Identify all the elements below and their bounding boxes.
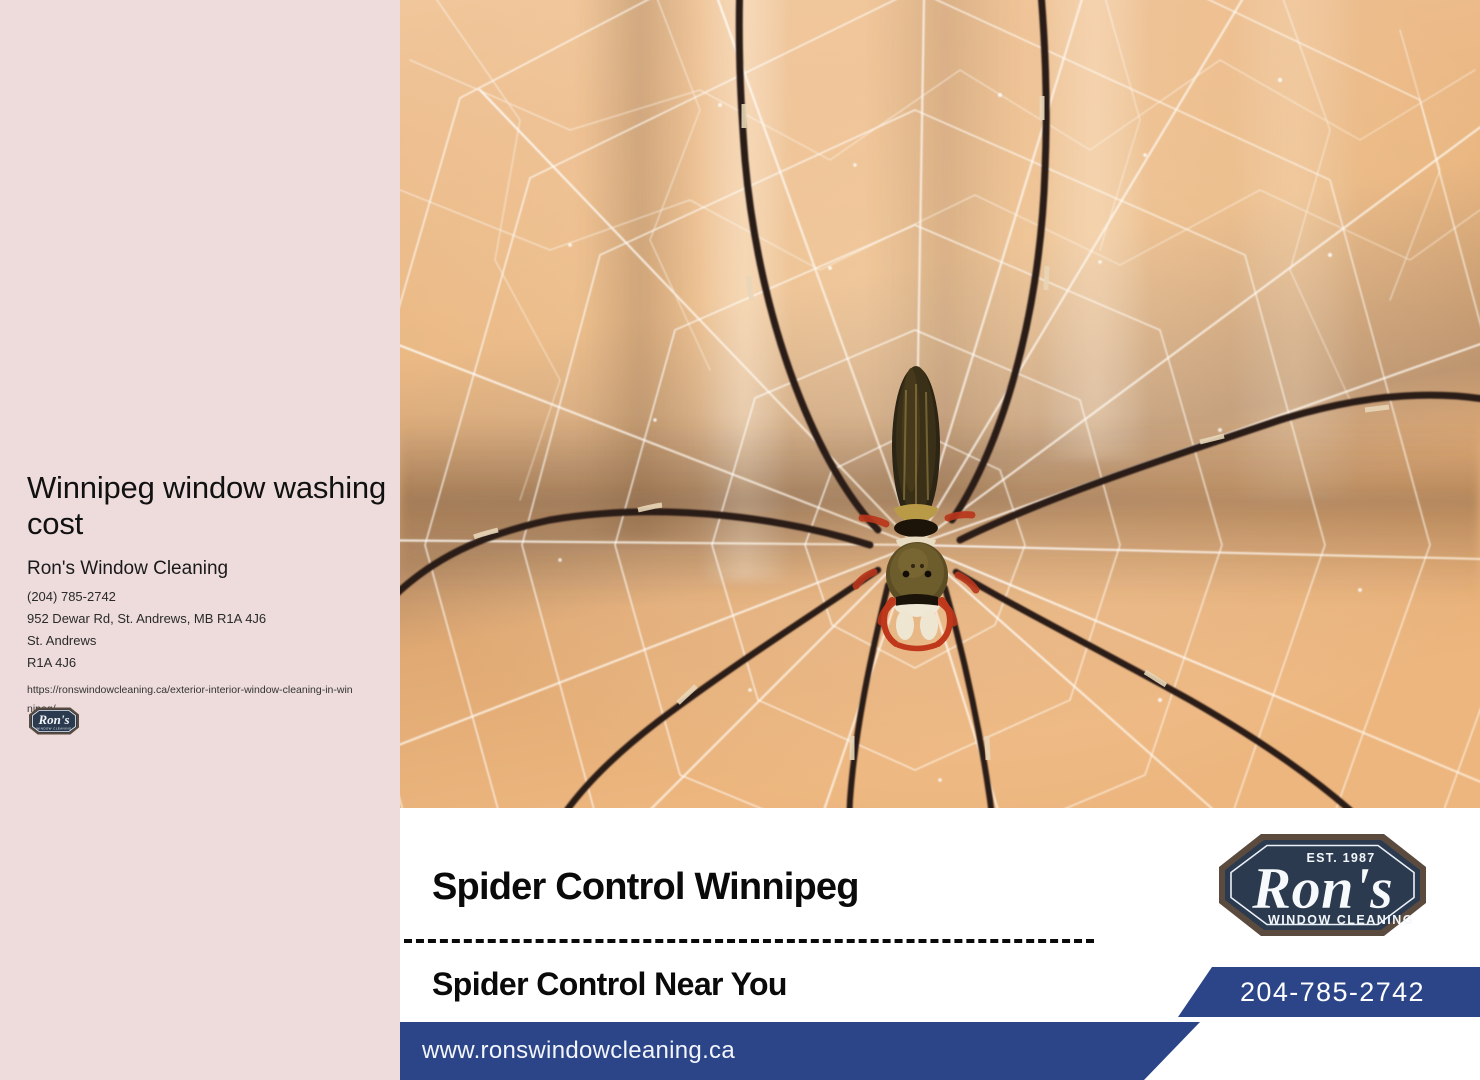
business-info-panel: Winnipeg window washing cost Ron's Windo… bbox=[0, 0, 400, 1080]
rons-badge-icon: Ron's WINDOW CLEANING bbox=[27, 706, 81, 736]
business-city: St. Andrews bbox=[27, 630, 400, 652]
svg-text:WINDOW CLEANING: WINDOW CLEANING bbox=[1268, 913, 1414, 927]
business-address: 952 Dewar Rd, St. Andrews, MB R1A 4J6 bbox=[27, 608, 400, 630]
business-phone[interactable]: (204) 785-2742 bbox=[27, 586, 400, 608]
svg-text:Ron's: Ron's bbox=[37, 712, 69, 727]
footer-phone-number: 204-785-2742 bbox=[1240, 977, 1425, 1008]
page-title-line-1: Winnipeg window washing bbox=[27, 470, 386, 505]
business-postal-code: R1A 4J6 bbox=[27, 652, 400, 674]
business-name: Ron's Window Cleaning bbox=[27, 556, 400, 582]
business-info-stack: Winnipeg window washing cost Ron's Windo… bbox=[27, 470, 400, 719]
footer-phone-bar[interactable]: 204-785-2742 bbox=[1178, 967, 1480, 1017]
hero-spider-photo bbox=[400, 0, 1480, 808]
svg-text:Ron's: Ron's bbox=[1251, 855, 1393, 921]
headline-primary: Spider Control Winnipeg bbox=[432, 866, 859, 909]
page-title: Winnipeg window washing cost bbox=[27, 470, 400, 542]
page-title-line-2: cost bbox=[27, 506, 400, 542]
headline-secondary: Spider Control Near You bbox=[432, 966, 787, 1003]
footer-website-url: www.ronswindowcleaning.ca bbox=[422, 1037, 735, 1065]
footer-website-bar[interactable]: www.ronswindowcleaning.ca bbox=[400, 1022, 1200, 1080]
svg-text:WINDOW CLEANING: WINDOW CLEANING bbox=[36, 727, 72, 731]
rons-window-cleaning-badge-icon: EST. 1987 Ron's WINDOW CLEANING bbox=[1205, 824, 1440, 946]
headline-divider bbox=[404, 939, 1094, 943]
